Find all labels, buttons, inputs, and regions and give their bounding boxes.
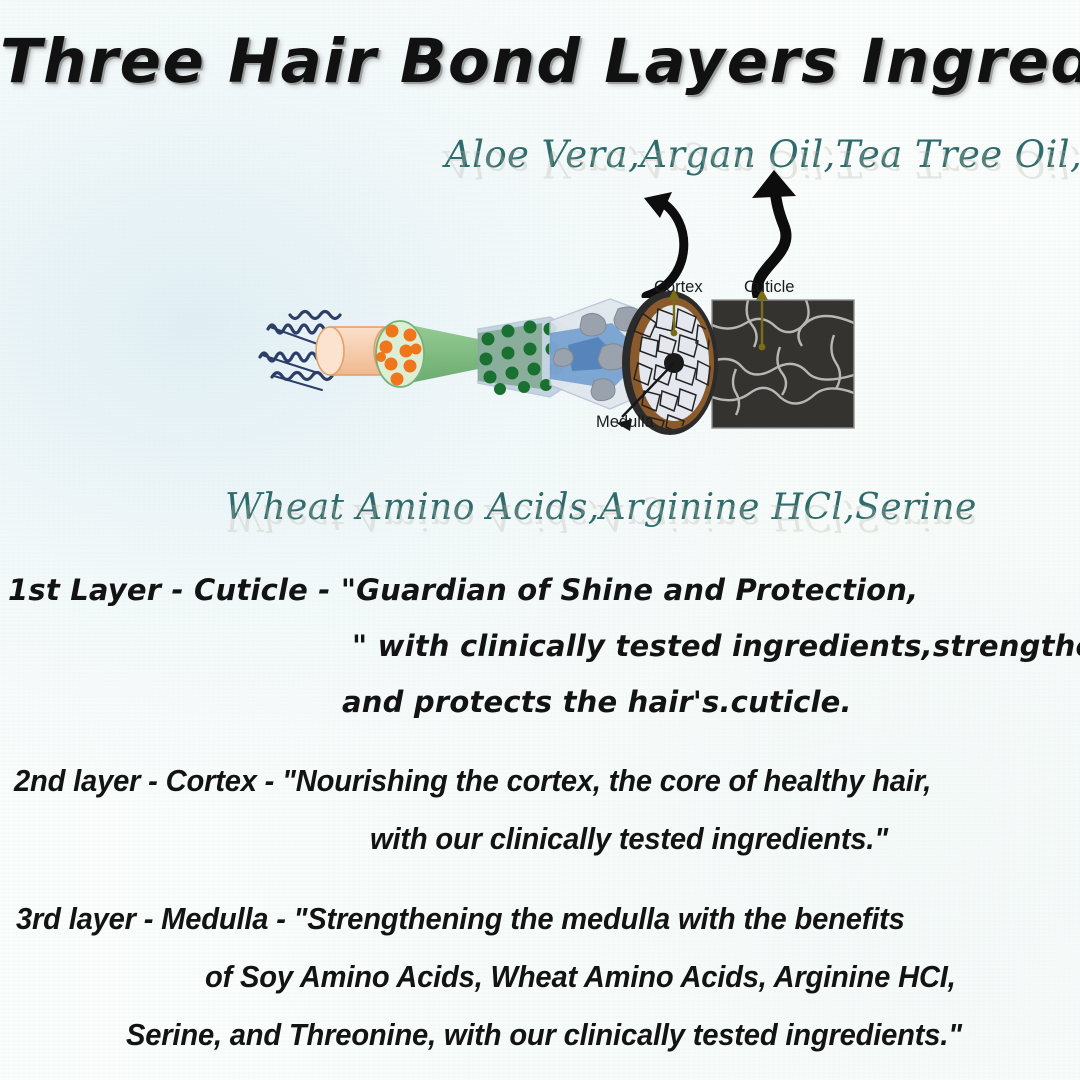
layer-cuticle-line-3: and protects the hair's.cuticle. — [342, 688, 1080, 718]
layer-block-cortex: 2nd layer - Cortex - "Nourishing the cor… — [0, 765, 1080, 855]
diagram-label-cuticle: Cuticle — [744, 278, 794, 297]
hair-structure-diagram: Cortex Cuticle Medulla — [250, 265, 870, 455]
layer-cortex-line-2: with our clinically tested ingredients." — [370, 823, 1037, 855]
layer-block-cuticle: 1st Layer - Cuticle - "Guardian of Shine… — [0, 576, 1080, 718]
poster-canvas: Three Hair Bond Layers Ingredients Aloe … — [0, 0, 1080, 1080]
layer-cortex-line-1: 2nd layer - Cortex - "Nourishing the cor… — [14, 765, 1016, 797]
layer-cuticle-line-2: " with clinically tested ingredients,str… — [352, 632, 1080, 662]
layer-block-medulla: 3rd layer - Medulla - "Strengthening the… — [0, 903, 1080, 1051]
layer-medulla-line-2: of Soy Amino Acids, Wheat Amino Acids, A… — [205, 961, 1028, 993]
layer-cuticle-line-1: 1st Layer - Cuticle - "Guardian of Shine… — [8, 576, 1080, 606]
protofibril-cone-shape — [376, 321, 478, 387]
layer-medulla-line-3: Serine, and Threonine, with our clinical… — [126, 1019, 1023, 1051]
hair-shaft-body — [712, 300, 854, 428]
diagram-label-medulla: Medulla — [596, 413, 654, 432]
ingredients-bottom-text: Wheat Amino Acids,Arginine HCl,Serine — [225, 487, 977, 528]
layer-medulla-line-1: 3rd layer - Medulla - "Strengthening the… — [16, 903, 1016, 935]
ingredients-bottom-line: Wheat Amino Acids,Arginine HCl,Serine Wh… — [225, 487, 977, 528]
diagram-label-cortex: Cortex — [654, 278, 703, 297]
page-title: Three Hair Bond Layers Ingredients — [0, 26, 1080, 97]
